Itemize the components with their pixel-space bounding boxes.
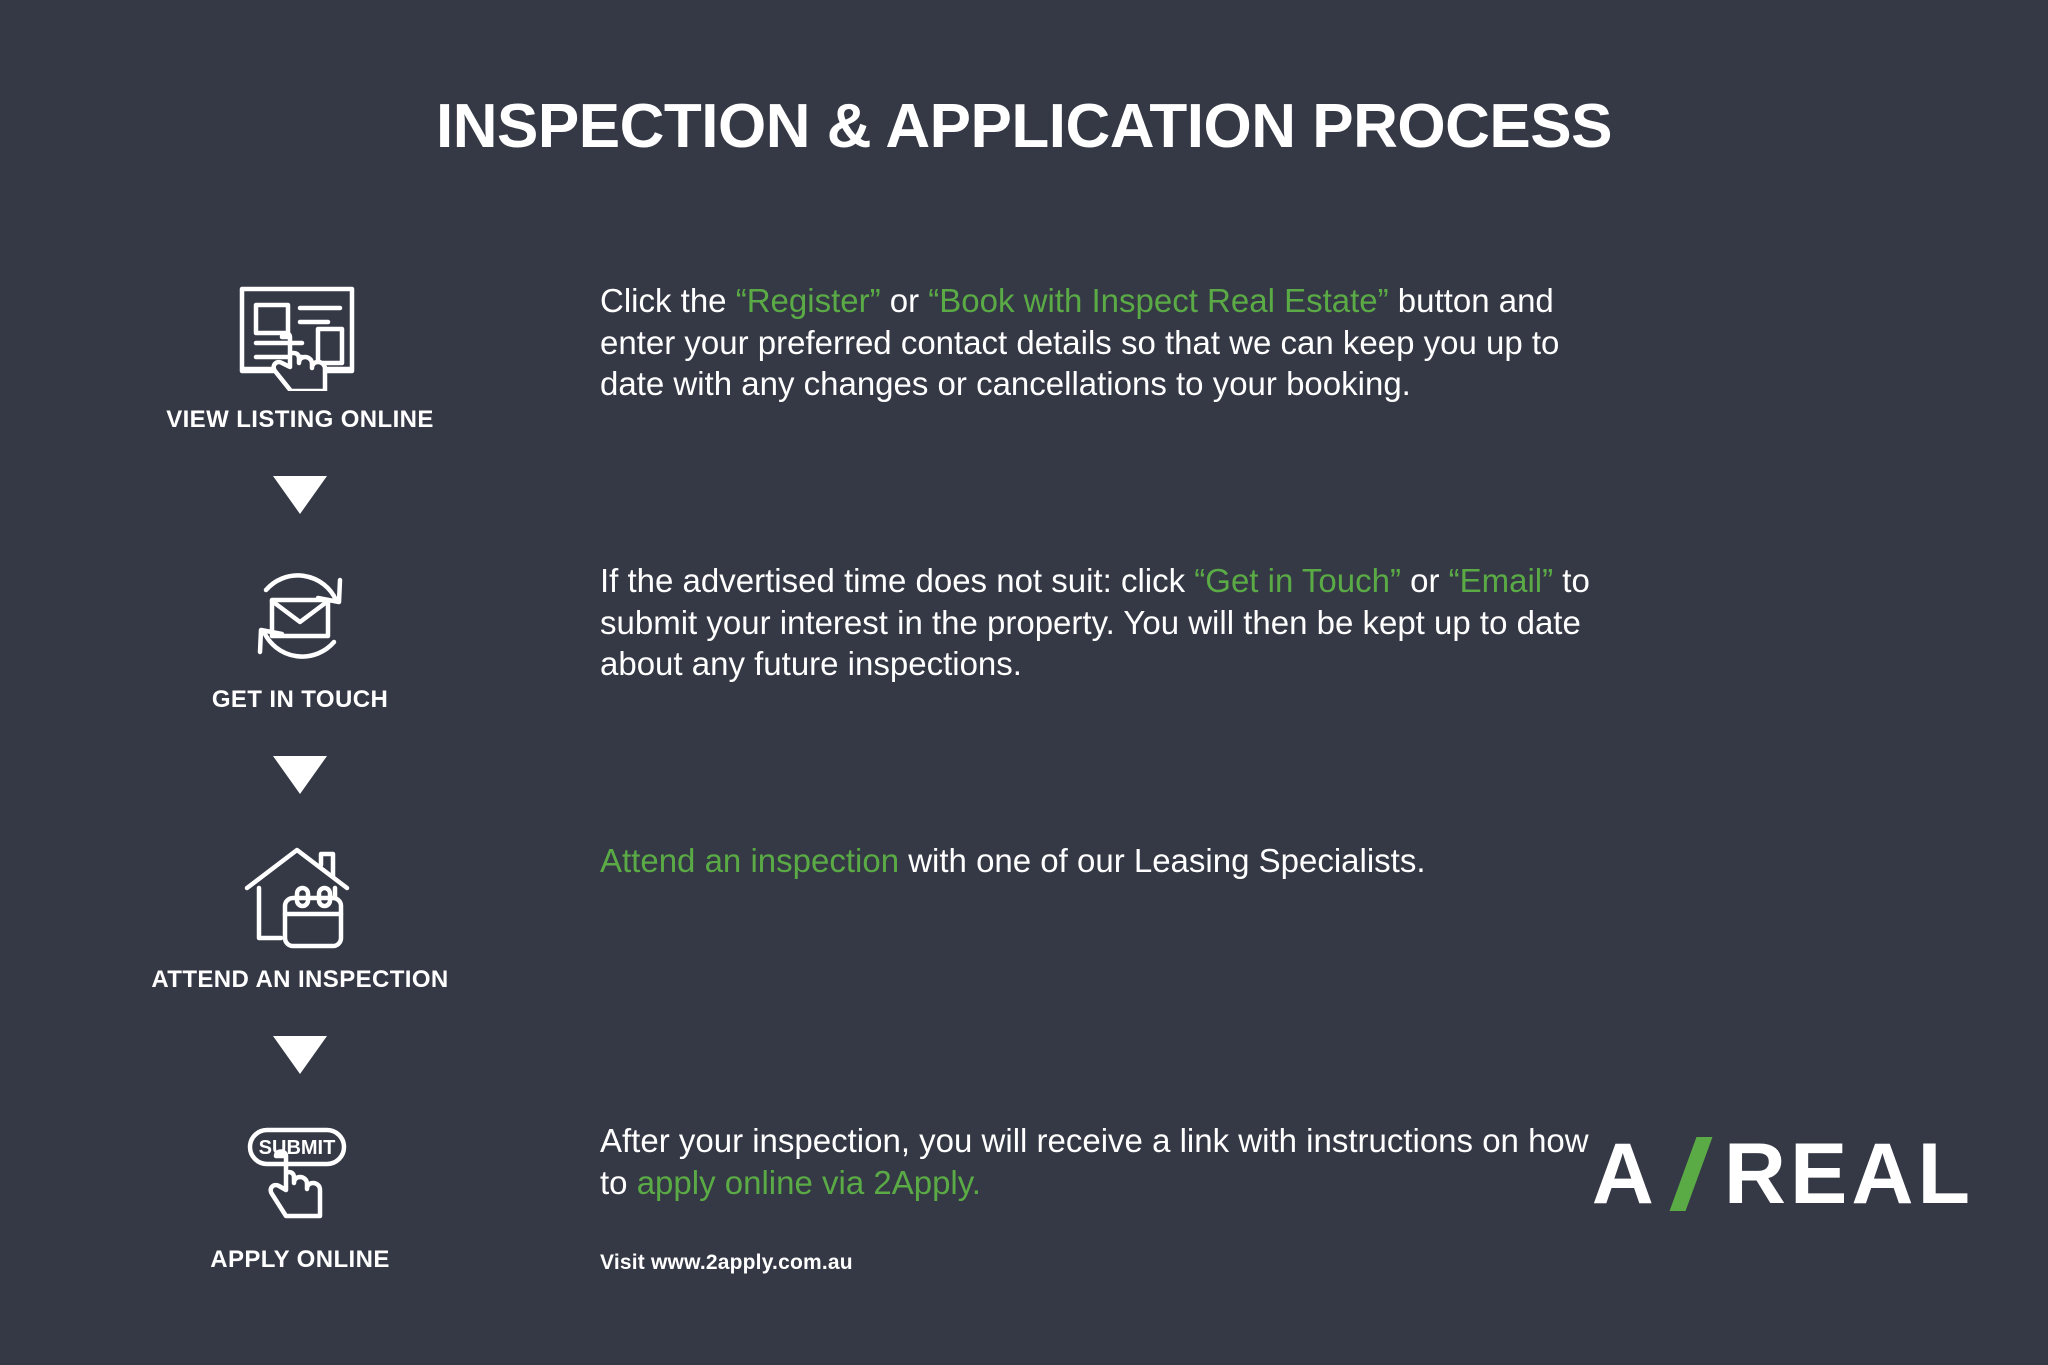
step-1-body: Click the “Register” or “Book with Inspe…	[600, 280, 1600, 405]
step-4-icon-column: SUBMIT APPLY ONLINE	[0, 1120, 600, 1274]
spacer	[0, 514, 2048, 560]
brand-logo: A REAL	[1592, 1131, 1974, 1217]
arrow-connector-3	[0, 1036, 600, 1074]
text-fragment-accent: “Get in Touch”	[1194, 562, 1401, 599]
browser-window-with-pointer-icon	[225, 280, 375, 392]
spacer	[0, 434, 2048, 476]
house-with-calendar-icon	[225, 840, 375, 952]
down-triangle-icon	[273, 476, 327, 514]
page-title: INSPECTION & APPLICATION PROCESS	[0, 94, 2048, 159]
step-4-label: APPLY ONLINE	[210, 1246, 390, 1274]
text-fragment: If the advertised time does not suit: cl…	[600, 562, 1194, 599]
spacer	[0, 994, 2048, 1036]
text-fragment: or	[881, 282, 929, 319]
text-fragment: or	[1401, 562, 1449, 599]
text-fragment-accent: Attend an inspection	[600, 842, 899, 879]
step-2-text-column: If the advertised time does not suit: cl…	[600, 560, 2048, 685]
step-3-label: ATTEND AN INSPECTION	[151, 966, 448, 994]
down-triangle-icon	[273, 756, 327, 794]
spacer	[0, 1074, 2048, 1120]
logo-slash-icon	[1664, 1137, 1718, 1211]
step-2-label: GET IN TOUCH	[212, 686, 388, 714]
step-4-body: After your inspection, you will receive …	[600, 1120, 1600, 1203]
submit-icon-label: SUBMIT	[259, 1137, 336, 1159]
arrow-connector-1	[0, 476, 600, 514]
spacer	[0, 714, 2048, 756]
step-attend-an-inspection: ATTEND AN INSPECTION Attend an inspectio…	[0, 840, 2048, 994]
step-1-label: VIEW LISTING ONLINE	[166, 406, 434, 434]
visit-url: Visit www.2apply.com.au	[600, 1251, 1988, 1275]
down-triangle-icon	[273, 1036, 327, 1074]
step-3-icon-column: ATTEND AN INSPECTION	[0, 840, 600, 994]
spacer	[0, 794, 2048, 840]
text-fragment: with one of our Leasing Specialists.	[899, 842, 1425, 879]
logo-letter-a: A	[1592, 1131, 1658, 1217]
step-2-body: If the advertised time does not suit: cl…	[600, 560, 1600, 685]
text-fragment: Click the	[600, 282, 736, 319]
text-fragment-accent: “Email”	[1449, 562, 1554, 599]
step-1-text-column: Click the “Register” or “Book with Inspe…	[600, 280, 2048, 405]
step-3-body: Attend an inspection with one of our Lea…	[600, 840, 1600, 882]
step-2-icon-column: GET IN TOUCH	[0, 560, 600, 714]
arrow-connector-2	[0, 756, 600, 794]
step-1-icon-column: VIEW LISTING ONLINE	[0, 280, 600, 434]
submit-button-with-pointer-icon: SUBMIT	[225, 1120, 375, 1232]
email-refresh-icon	[225, 560, 375, 672]
step-view-listing-online: VIEW LISTING ONLINE Click the “Register”…	[0, 280, 2048, 434]
text-fragment-accent: apply online via 2Apply.	[637, 1164, 981, 1201]
step-get-in-touch: GET IN TOUCH If the advertised time does…	[0, 560, 2048, 714]
step-3-text-column: Attend an inspection with one of our Lea…	[600, 840, 2048, 882]
logo-word-real: REAL	[1724, 1131, 1974, 1217]
text-fragment-accent: “Book with Inspect Real Estate”	[928, 282, 1388, 319]
text-fragment-accent: “Register”	[736, 282, 881, 319]
infographic-page: INSPECTION & APPLICATION PROCESS	[0, 0, 2048, 1365]
